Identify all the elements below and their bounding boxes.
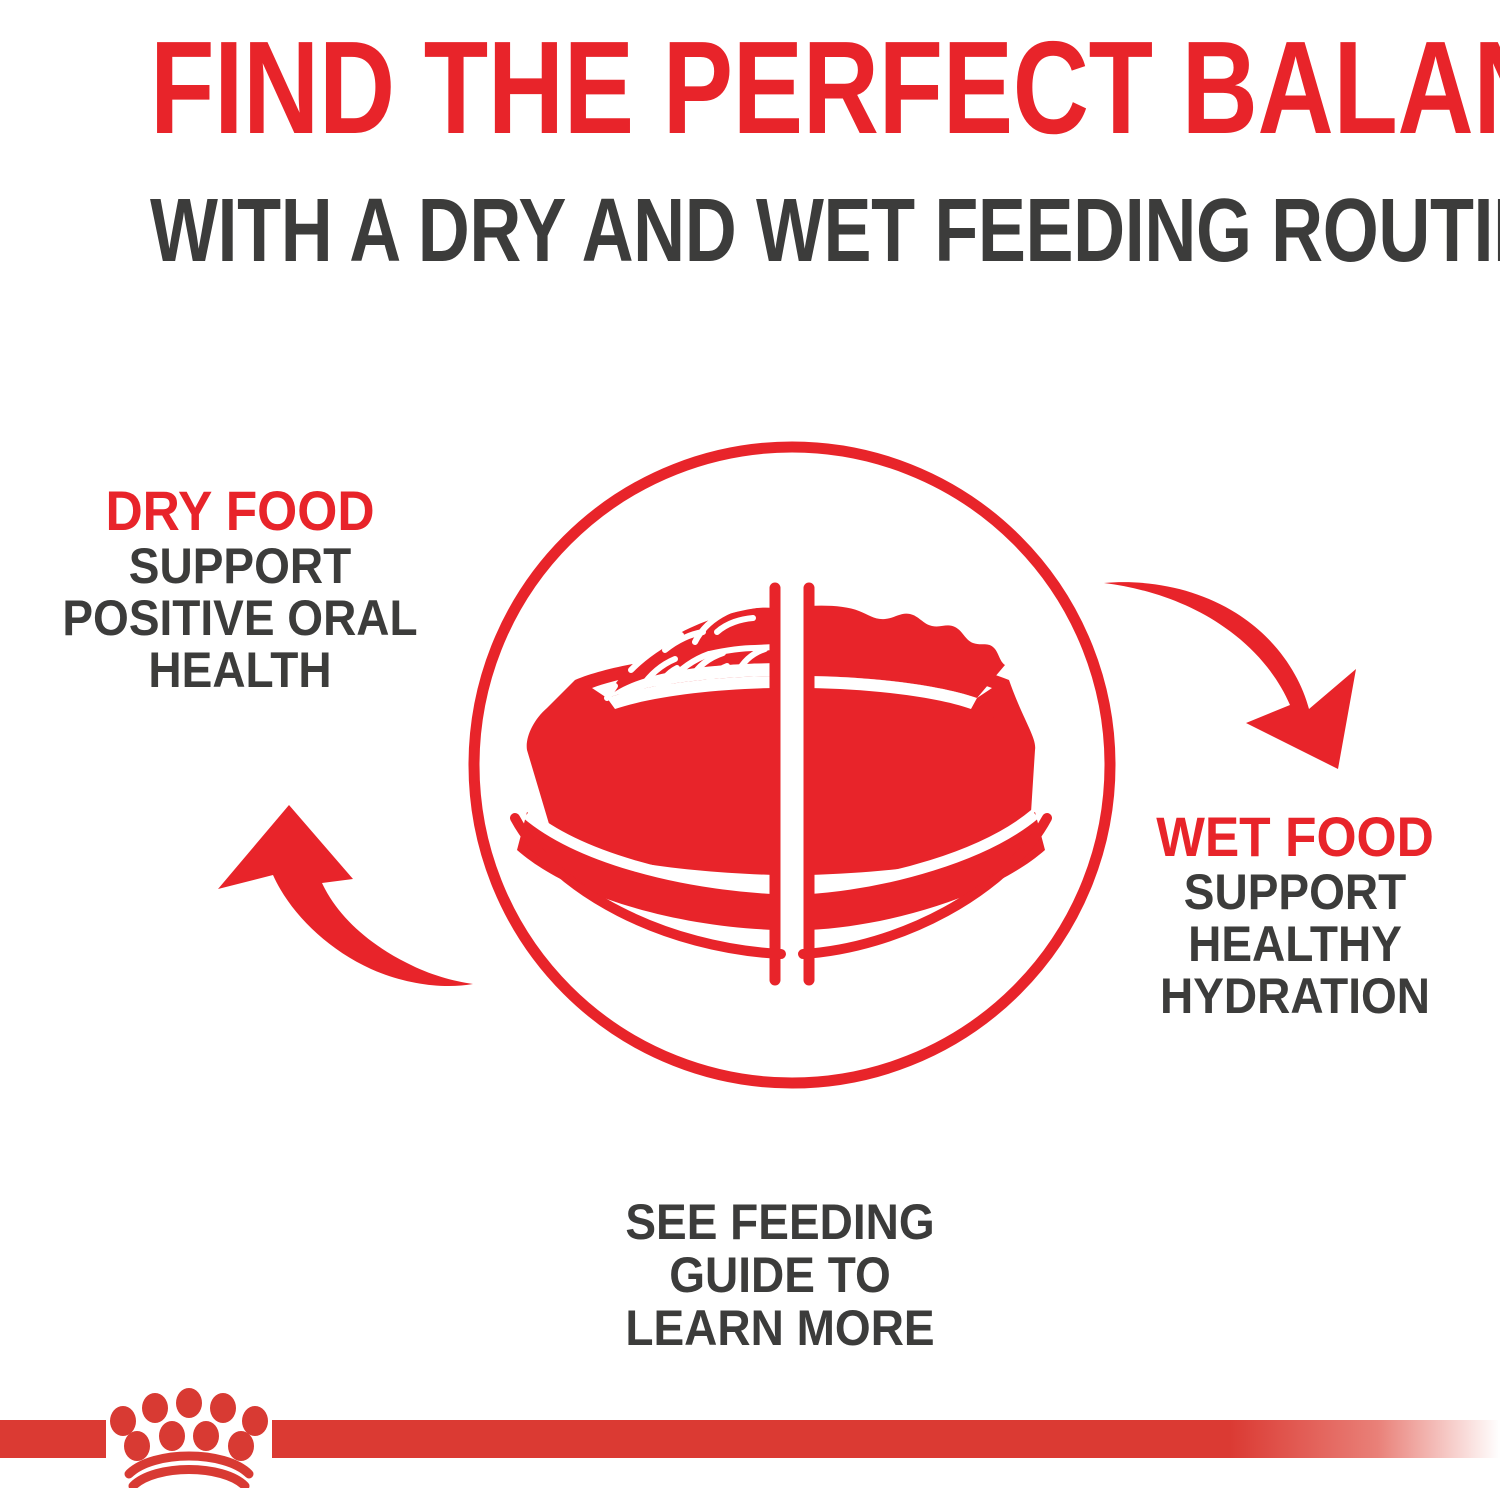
feeding-guide-line-3: LEARN MORE xyxy=(578,1302,983,1355)
wet-food-label-block: WET FOOD SUPPORT HEALTHY HYDRATION xyxy=(1090,808,1500,1022)
bowl-group xyxy=(515,605,1047,954)
crown-arcs xyxy=(129,1456,249,1486)
feeding-guide-line-1: SEE FEEDING xyxy=(578,1196,983,1249)
band-segment-right xyxy=(272,1420,1500,1458)
feeding-guide-line-2: GUIDE TO xyxy=(578,1249,983,1302)
curved-arrow-down-right-icon xyxy=(1090,555,1390,805)
wet-food-heading: WET FOOD xyxy=(1106,808,1483,866)
dry-food-line-1: SUPPORT xyxy=(56,540,424,592)
feeding-guide-text: SEE FEEDING GUIDE TO LEARN MORE xyxy=(578,1196,983,1355)
page-title: FIND THE PERFECT BALANCE xyxy=(150,22,1350,154)
band-segment-left xyxy=(0,1420,106,1458)
curved-arrow-up-left-icon xyxy=(185,785,485,1020)
dry-food-heading: DRY FOOD xyxy=(56,482,424,540)
crown-logo-icon xyxy=(103,1388,275,1488)
wet-food-description: SUPPORT HEALTHY HYDRATION xyxy=(1106,866,1483,1022)
dry-food-line-2: POSITIVE ORAL xyxy=(56,592,424,644)
page-subtitle: WITH A DRY AND WET FEEDING ROUTINE xyxy=(150,186,1350,276)
wet-food-line-2: HYDRATION xyxy=(1106,970,1483,1022)
dry-food-line-3: HEALTH xyxy=(56,644,424,696)
infographic-canvas: FIND THE PERFECT BALANCE WITH A DRY AND … xyxy=(0,0,1500,1500)
dry-food-label-block: DRY FOOD SUPPORT POSITIVE ORAL HEALTH xyxy=(40,482,440,696)
split-pet-food-bowl-icon xyxy=(455,420,1145,1110)
wet-food-line-1: SUPPORT HEALTHY xyxy=(1106,866,1483,970)
crown-dots xyxy=(110,1388,268,1461)
dry-food-description: SUPPORT POSITIVE ORAL HEALTH xyxy=(56,540,424,696)
feeding-guide-note: SEE FEEDING GUIDE TO LEARN MORE xyxy=(560,1196,1000,1355)
